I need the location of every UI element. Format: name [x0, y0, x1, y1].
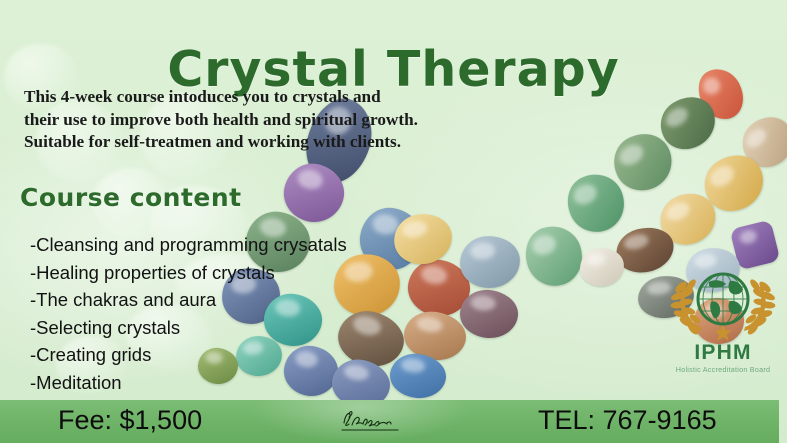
- list-item: -Cleansing and programming crysatals: [30, 231, 450, 259]
- intro-line: This 4-week course intoduces you to crys…: [24, 86, 494, 109]
- course-content-heading: Course content: [20, 183, 242, 212]
- list-item: -Meditation: [30, 369, 450, 397]
- handwritten-signature-icon: [338, 409, 410, 435]
- intro-paragraph: This 4-week course intoduces you to crys…: [24, 86, 494, 154]
- globe-laurel-icon: [664, 268, 782, 342]
- fee-text: Fee: $1,500: [58, 405, 202, 436]
- intro-line: their use to improve both health and spi…: [24, 109, 494, 132]
- intro-line: Suitable for self-treatmen and working w…: [24, 131, 494, 154]
- poster-canvas: Crystal Therapy This 4-week course intod…: [0, 0, 787, 443]
- list-item: -Creating grids: [30, 341, 450, 369]
- iphm-logo-subtitle: Holistic Accreditation Board: [664, 364, 782, 375]
- course-content-list: -Cleansing and programming crysatals -He…: [30, 231, 450, 396]
- iphm-logo-name: IPHM: [664, 342, 782, 364]
- list-item: -Selecting crystals: [30, 314, 450, 342]
- list-item: -The chakras and aura: [30, 286, 450, 314]
- signature-image: [338, 409, 410, 435]
- iphm-logo: IPHM Holistic Accreditation Board: [664, 268, 782, 388]
- list-item: -Healing properties of crystals: [30, 259, 450, 287]
- telephone-text: TEL: 767-9165: [538, 405, 717, 436]
- iphm-emblem-icon: [664, 268, 782, 342]
